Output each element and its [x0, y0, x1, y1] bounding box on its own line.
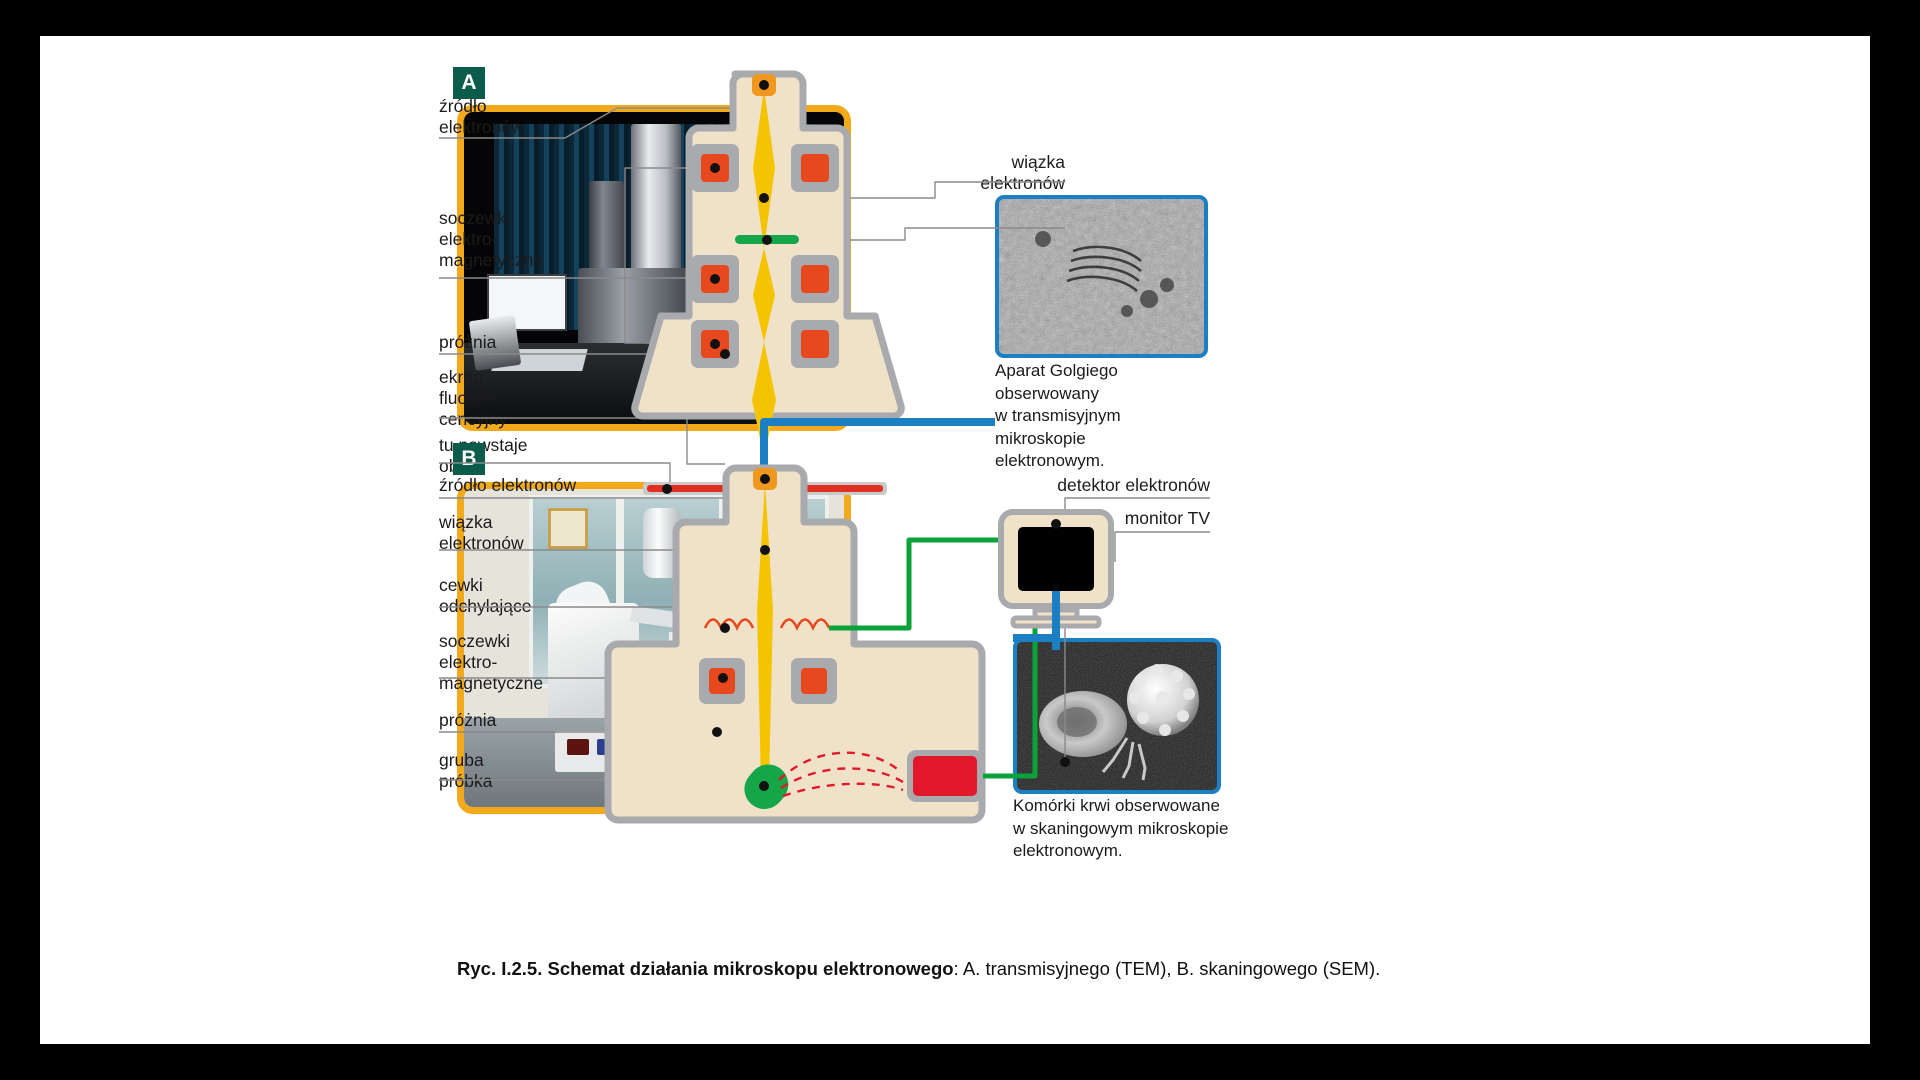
page-root: A źródło elektronów [0, 0, 1920, 1080]
micrograph-golgi-caption: Aparat Golgiego obserwowany w transmisyj… [995, 360, 1210, 473]
photo-b-monitor-1 [669, 632, 742, 704]
panel-a-badge: A [453, 67, 485, 99]
photo-b-nitrogen-tank [643, 508, 681, 578]
photo-a-body [578, 268, 692, 349]
label-a-electron-beam: wiązka elektronów [965, 152, 1065, 194]
photo-b-sem-body [548, 603, 639, 724]
sem-tv-monitor [1001, 512, 1111, 626]
photo-b-keyboard [642, 743, 787, 781]
panel-b-badge: B [453, 443, 485, 475]
label-a-vacuum: próżnia [439, 332, 496, 353]
micrograph-blood-cells [1013, 638, 1221, 794]
photo-b-display-blue [597, 739, 624, 755]
label-b-electromagnetic-lenses: soczewki elektro- magnetyczne [439, 631, 543, 694]
figure-caption-rest: : A. transmisyjnego (TEM), B. skaningowe… [954, 958, 1381, 979]
photo-a-knob [734, 349, 747, 362]
label-b-thick-sample: gruba próbka [439, 750, 493, 792]
micrograph-golgi [995, 195, 1208, 358]
label-a-electron-source: źródło elektronów [439, 96, 524, 138]
sem-signal-wiring [829, 540, 1035, 776]
photo-a-monitor-right [730, 284, 806, 338]
label-a-electromagnetic-lenses: soczewki elektro- magnetyczne [439, 208, 543, 271]
tem-electron-source [752, 74, 776, 96]
label-b-deflection-coils: cewki odchylające [439, 575, 531, 617]
photo-b-monitor-2 [741, 616, 817, 694]
micrograph-blood-caption: Komórki krwi obserwowane w skaningowym m… [1013, 795, 1243, 863]
figure-caption: Ryc. I.2.5. Schemat działania mikroskopu… [457, 955, 1432, 982]
photo-b-display-red [567, 739, 590, 755]
figure-sheet: A źródło elektronów [40, 36, 1870, 1044]
sem-electron-detector [907, 750, 983, 802]
label-b-tv-monitor: monitor TV [955, 508, 1210, 529]
label-b-electron-beam: wiązka elektronów [439, 512, 524, 554]
photo-a-console [697, 343, 801, 371]
figure-caption-strong: Ryc. I.2.5. Schemat działania mikroskopu… [457, 958, 954, 979]
label-a-fluorescent-screen: ekran fluores- cencyjny [439, 367, 507, 430]
photo-a-column [631, 124, 680, 274]
label-b-electron-source: źródło elektronów [439, 475, 576, 496]
photo-b-picture-frame [548, 508, 588, 549]
figure-container: A źródło elektronów [435, 50, 1445, 1030]
label-b-vacuum: próżnia [439, 710, 496, 731]
label-b-electron-detector: detektor elektronów [955, 475, 1210, 496]
